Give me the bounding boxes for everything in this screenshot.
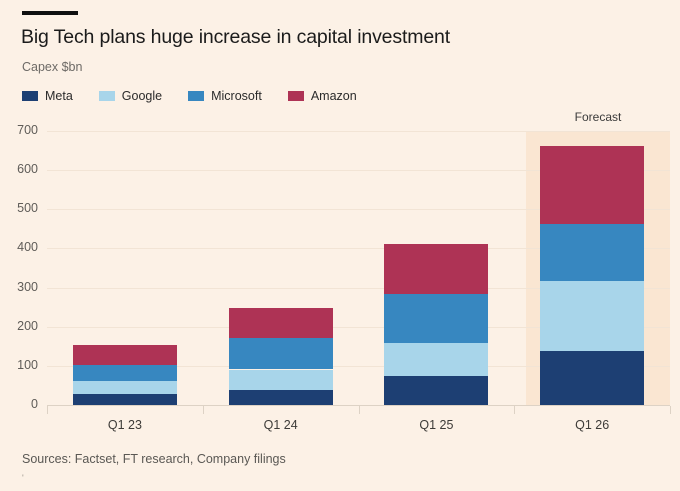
bar-segment-amazon[interactable] <box>384 244 488 294</box>
bar-segment-microsoft[interactable] <box>540 224 644 281</box>
bar-segment-google[interactable] <box>229 370 333 390</box>
bar-segment-microsoft[interactable] <box>229 338 333 369</box>
x-axis-tick-mark <box>203 406 204 414</box>
footer-mark: ' <box>22 473 24 483</box>
y-axis-tick-label: 500 <box>0 201 38 215</box>
bar-segment-amazon[interactable] <box>73 345 177 365</box>
y-axis-tick-label: 600 <box>0 162 38 176</box>
x-axis-tick-mark <box>47 406 48 414</box>
x-axis-tick-label: Q1 24 <box>221 418 341 432</box>
x-axis-tick-label: Q1 26 <box>532 418 652 432</box>
bar-segment-google[interactable] <box>384 343 488 376</box>
y-axis-tick-label: 300 <box>0 280 38 294</box>
bar-segment-meta[interactable] <box>229 390 333 405</box>
y-axis-tick-label: 100 <box>0 358 38 372</box>
y-axis-tick-label: 200 <box>0 319 38 333</box>
plot-area: Forecast 0100200300400500600700 Q1 23Q1 … <box>0 0 680 491</box>
bar-segment-microsoft[interactable] <box>73 365 177 381</box>
x-axis-tick-label: Q1 25 <box>376 418 496 432</box>
bar-segment-amazon[interactable] <box>540 146 644 224</box>
bar-segment-microsoft[interactable] <box>384 294 488 343</box>
x-axis-tick-mark <box>514 406 515 414</box>
y-axis-tick-label: 0 <box>0 397 38 411</box>
y-axis-tick-label: 400 <box>0 240 38 254</box>
bar-segment-amazon[interactable] <box>229 308 333 338</box>
bar-segment-google[interactable] <box>73 381 177 394</box>
x-axis-tick-mark <box>359 406 360 414</box>
x-axis-tick-label: Q1 23 <box>65 418 185 432</box>
chart-page: Big Tech plans huge increase in capital … <box>0 0 680 491</box>
gridline <box>47 131 670 132</box>
bar-segment-meta[interactable] <box>384 376 488 405</box>
sources-note: Sources: Factset, FT research, Company f… <box>22 452 286 466</box>
bar-segment-meta[interactable] <box>540 351 644 405</box>
bar-segment-google[interactable] <box>540 281 644 351</box>
forecast-annotation: Forecast <box>526 110 670 124</box>
y-axis-tick-label: 700 <box>0 123 38 137</box>
x-axis-tick-mark <box>670 406 671 414</box>
bar-segment-meta[interactable] <box>73 394 177 405</box>
